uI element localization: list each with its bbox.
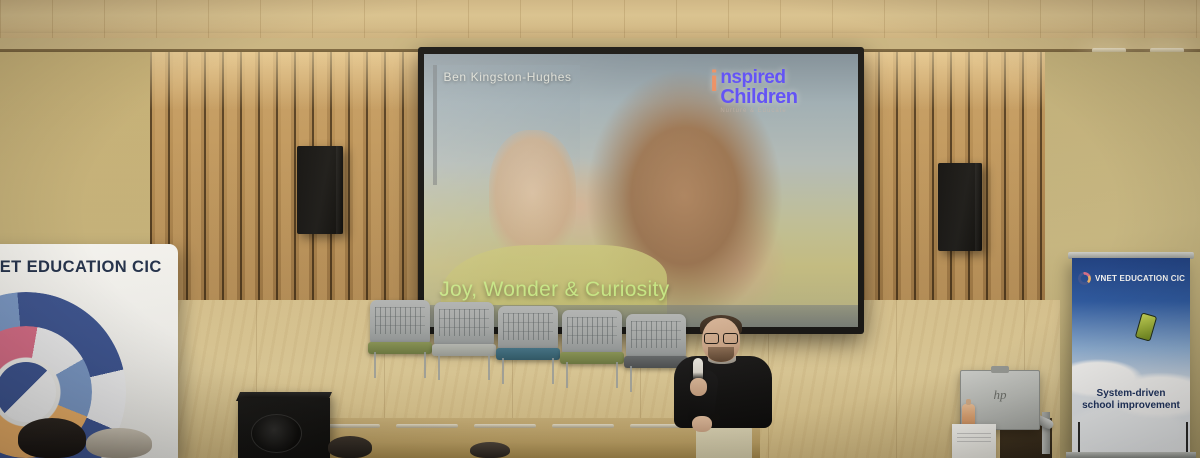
stage-rail [552,424,614,428]
slide-presenter-name: Ben Kingston-Hughes [444,70,572,84]
chair-back [370,300,430,344]
subwoofer-cone [251,414,303,454]
presenter-hand [692,416,712,432]
presentation-hall-photo: Ben Kingston-Hughes i nspired Children N… [0,0,1200,458]
tagline-line-2: school improvement [1076,400,1186,412]
wristwatch [711,414,720,420]
slat-wall-left [150,52,440,324]
stage-chair [370,300,430,378]
logo-initial-i: i [710,68,718,95]
floor-subwoofer [238,398,330,458]
presenter-beard [708,347,734,362]
audience-head [18,418,86,458]
stage-chair [562,310,622,388]
presenter-hand-holding-mic [690,378,707,396]
monitor-hinge [991,366,1009,373]
projection-screen: Ben Kingston-Hughes i nspired Children N… [418,47,864,334]
right-banner-leg [1186,422,1188,452]
logo-tagline: Nurture & Educate [720,108,797,114]
slide-child-hand [489,130,576,256]
stage-chair [434,302,494,380]
audience-head [86,428,152,458]
logo-word-children: Children [720,87,797,107]
white-box [952,424,996,458]
tagline-line-1: System-driven [1076,388,1186,400]
kite-graphic [1135,312,1158,341]
right-banner-logo-row: VNET EDUCATION CIC [1078,272,1185,285]
chair-legs [566,362,619,388]
hp-logo: hp [994,387,1007,403]
stage-chair [498,306,558,384]
audience-head [470,442,510,458]
inspired-children-logo: i nspired Children Nurture & Educate [710,68,845,126]
chair-legs [502,358,555,384]
stage-rail [396,424,458,428]
left-wall-speaker [297,146,343,234]
right-banner-leg [1078,422,1080,452]
audience-head [328,436,372,458]
chair-back [562,310,622,354]
right-banner: VNET EDUCATION CIC System-driven school … [1072,258,1190,454]
white-box-label [957,433,991,442]
chair-legs [438,354,491,380]
slide-title: Joy, Wonder & Curiosity [439,278,669,302]
right-banner-title: VNET EDUCATION CIC [1095,274,1185,283]
stage-rail [474,424,536,428]
right-banner-base [1066,452,1196,458]
projected-slide: Ben Kingston-Hughes i nspired Children N… [424,54,858,327]
right-wall-speaker [938,163,982,251]
chair-back [498,306,558,350]
right-banner-tagline: System-driven school improvement [1076,388,1186,412]
presenter [668,318,778,458]
chair-back [434,302,494,346]
vnet-mark-icon [1078,272,1091,285]
left-banner-title: VNET EDUCATION CIC [0,258,176,277]
glasses-icon [704,333,738,342]
chair-legs [374,352,427,378]
logo-word-nspired: nspired [720,68,797,87]
